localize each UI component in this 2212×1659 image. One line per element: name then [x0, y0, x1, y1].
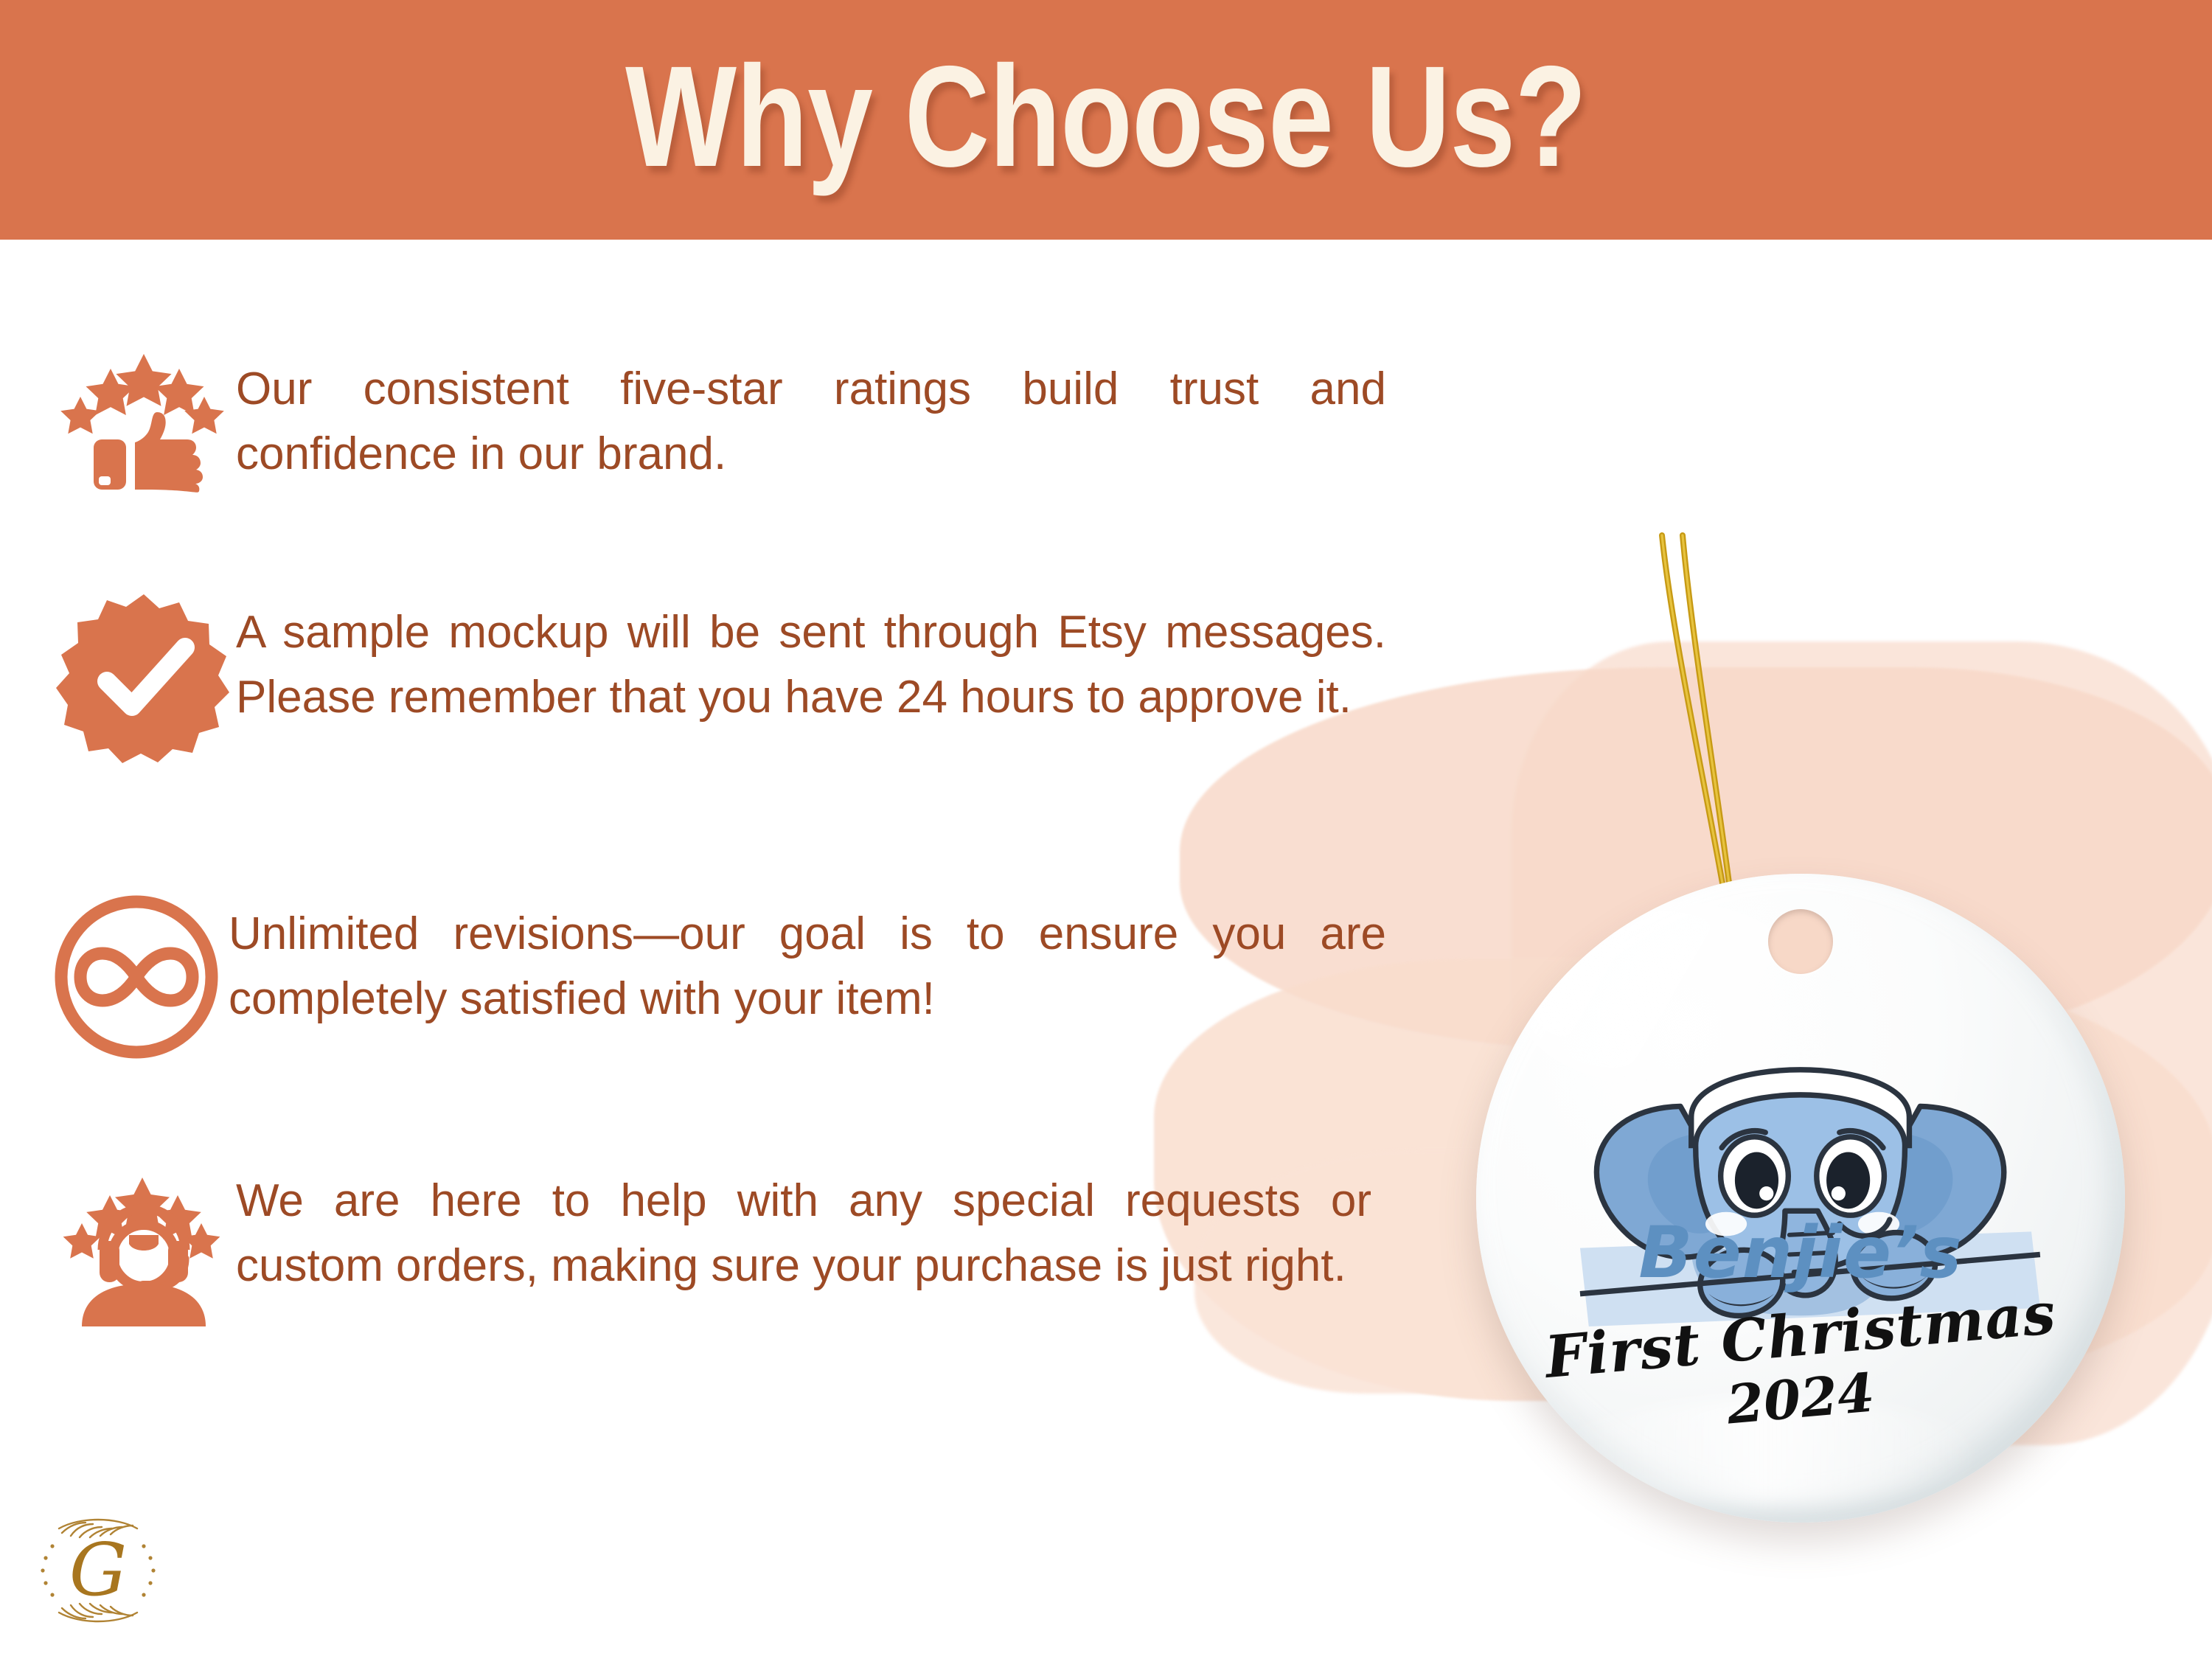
logo-monogram-letter: G: [69, 1528, 127, 1613]
feature-item-mockup: A sample mockup will be sent through Ets…: [52, 590, 1386, 767]
feature-text: A sample mockup will be sent through Ets…: [236, 600, 1386, 730]
product-ornament-image: Benjie’s First Christmas 2024: [1423, 531, 2160, 1512]
feature-item-support: We are here to help with any special req…: [52, 1161, 1371, 1331]
feature-item-ratings: Our consistent five-star ratings build t…: [52, 339, 1386, 498]
page-title: Why Choose Us?: [625, 45, 1586, 189]
feature-text: We are here to help with any special req…: [236, 1169, 1371, 1298]
ornament-name-text: Benjie’s: [1476, 1211, 2125, 1294]
feature-text: Unlimited revisions—our goal is to ensur…: [229, 902, 1386, 1032]
five-star-thumbs-up-icon: [52, 339, 236, 498]
laurel-wreath-monogram-logo: G: [28, 1500, 168, 1641]
slide-canvas: Why Choose Us?: [0, 0, 2212, 1659]
ornament-disc: Benjie’s First Christmas 2024: [1476, 874, 2125, 1523]
infinity-circle-icon: [44, 888, 229, 1065]
feature-item-revisions: Unlimited revisions—our goal is to ensur…: [44, 888, 1386, 1065]
gold-hanging-cord-icon: [1658, 531, 1753, 903]
ornament-hole: [1768, 909, 1833, 974]
customer-support-headset-stars-icon: [52, 1161, 236, 1331]
feature-text: Our consistent five-star ratings build t…: [236, 357, 1386, 487]
header-banner: Why Choose Us?: [0, 0, 2212, 240]
verified-check-badge-icon: [52, 590, 236, 767]
